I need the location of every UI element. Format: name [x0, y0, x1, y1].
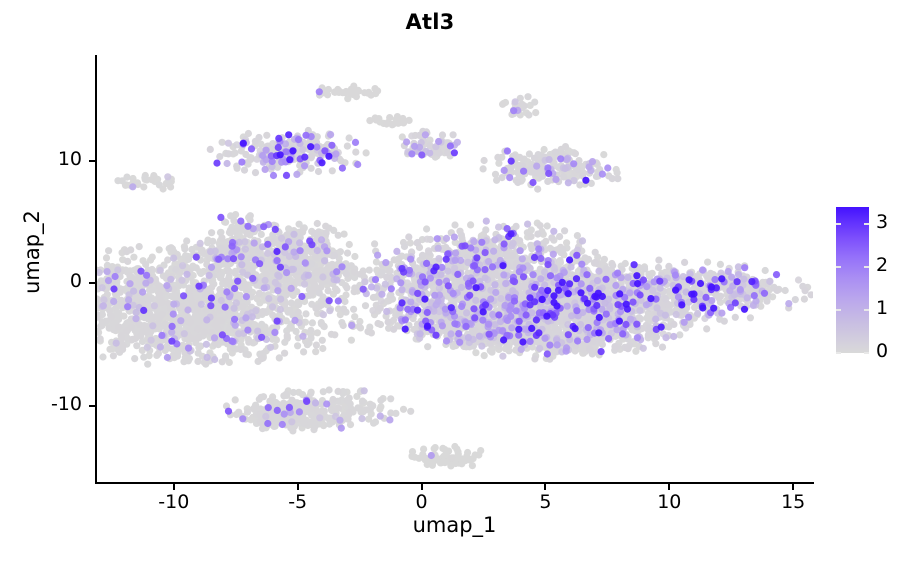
scatter-point: [232, 270, 239, 277]
scatter-point: [383, 120, 390, 127]
scatter-point: [216, 286, 223, 293]
scatter-points-layer: [97, 55, 813, 482]
scatter-point: [364, 328, 371, 335]
scatter-point: [544, 222, 551, 229]
scatter-point: [343, 270, 350, 277]
scatter-point: [149, 254, 156, 261]
scatter-point: [458, 235, 465, 242]
scatter-point: [352, 149, 359, 156]
scatter-point: [307, 335, 314, 342]
scatter-point: [351, 288, 358, 295]
scatter-point: [670, 321, 677, 328]
scatter-point: [782, 287, 789, 294]
scatter-point: [344, 416, 351, 423]
scatter-point: [560, 173, 567, 180]
scatter-point: [531, 155, 538, 162]
scatter-point: [704, 275, 711, 282]
scatter-point: [143, 323, 150, 330]
scatter-point: [704, 259, 711, 266]
scatter-point: [280, 400, 287, 407]
scatter-point: [439, 445, 446, 452]
scatter-point: [185, 287, 192, 294]
scatter-point: [97, 329, 102, 336]
scatter-point: [622, 260, 629, 267]
scatter-point: [371, 85, 378, 92]
scatter-point: [624, 345, 631, 352]
scatter-point: [322, 223, 329, 230]
scatter-point: [282, 391, 289, 398]
scatter-point: [207, 146, 214, 153]
scatter-point: [308, 153, 315, 160]
scatter-point: [311, 420, 318, 427]
scatter-point: [353, 93, 360, 100]
scatter-point: [321, 408, 328, 415]
scatter-point: [481, 352, 488, 359]
scatter-point: [343, 397, 350, 404]
scatter-point: [323, 266, 330, 273]
scatter-point: [168, 293, 175, 300]
scatter-point: [323, 230, 330, 237]
scatter-point: [194, 325, 201, 332]
scatter-point: [181, 245, 188, 252]
scatter-point: [527, 242, 534, 249]
scatter-point: [659, 344, 666, 351]
scatter-point: [320, 323, 327, 330]
scatter-point: [609, 262, 616, 269]
scatter-point: [258, 321, 265, 328]
scatter-point: [703, 325, 710, 332]
scatter-point: [386, 114, 393, 121]
scatter-point: [340, 322, 347, 329]
scatter-point: [450, 131, 457, 138]
scatter-point: [335, 232, 342, 239]
scatter-point: [199, 248, 206, 255]
scatter-point: [717, 261, 724, 268]
scatter-point: [213, 318, 220, 325]
scatter-point: [314, 220, 321, 227]
scatter-point: [605, 287, 612, 294]
scatter-point: [488, 349, 495, 356]
scatter-point: [227, 279, 234, 286]
scatter-point: [218, 245, 225, 252]
scatter-point: [329, 167, 336, 174]
scatter-point: [528, 233, 535, 240]
scatter-point: [377, 305, 384, 312]
scatter-point: [641, 265, 648, 272]
scatter-point: [231, 149, 238, 156]
scatter-point: [307, 327, 314, 334]
scatter-point: [218, 234, 225, 241]
scatter-point: [344, 250, 351, 257]
scatter-point: [155, 350, 162, 357]
scatter-point: [185, 319, 192, 326]
scatter-point: [514, 179, 521, 186]
scatter-point: [127, 246, 134, 253]
scatter-point: [472, 349, 479, 356]
scatter-point: [455, 450, 462, 457]
x-axis-spine: [95, 482, 814, 484]
scatter-point: [587, 346, 594, 353]
scatter-point: [335, 388, 342, 395]
scatter-point: [141, 174, 148, 181]
scatter-point: [128, 324, 135, 331]
scatter-point: [406, 117, 413, 124]
scatter-point: [346, 134, 353, 141]
scatter-point: [337, 248, 344, 255]
scatter-point: [401, 243, 408, 250]
scatter-point: [304, 341, 311, 348]
scatter-point: [326, 386, 333, 393]
scatter-point: [197, 270, 204, 277]
scatter-point: [372, 418, 379, 425]
scatter-point: [387, 267, 394, 274]
scatter-point: [516, 154, 523, 161]
scatter-point: [532, 109, 539, 116]
scatter-point: [548, 234, 555, 241]
scatter-point: [239, 303, 246, 310]
scatter-point: [351, 253, 358, 260]
scatter-point: [509, 252, 516, 259]
scatter-point: [423, 225, 430, 232]
scatter-point: [252, 138, 259, 145]
scatter-point: [189, 335, 196, 342]
scatter-point: [611, 343, 618, 350]
scatter-point: [448, 454, 455, 461]
scatter-point: [99, 353, 106, 360]
scatter-point: [156, 282, 163, 289]
scatter-point: [477, 447, 484, 454]
scatter-point: [139, 298, 146, 305]
scatter-point: [676, 331, 683, 338]
scatter-point: [133, 342, 140, 349]
scatter-point: [341, 298, 348, 305]
scatter-point: [318, 301, 325, 308]
scatter-point: [252, 405, 259, 412]
scatter-point: [469, 462, 476, 469]
scatter-point: [408, 132, 415, 139]
scatter-point: [257, 418, 264, 425]
scatter-point: [556, 258, 563, 265]
scatter-point: [268, 264, 275, 271]
scatter-point: [580, 346, 587, 353]
scatter-point: [534, 186, 541, 193]
scatter-point: [136, 321, 143, 328]
scatter-point: [124, 258, 131, 265]
scatter-point: [308, 165, 315, 172]
scatter-point: [208, 229, 215, 236]
scatter-point: [409, 452, 416, 459]
scatter-point: [315, 168, 322, 175]
scatter-point: [467, 221, 474, 228]
scatter-point: [319, 345, 326, 352]
scatter-point: [288, 299, 295, 306]
scatter-point: [244, 409, 251, 416]
scatter-point: [368, 92, 375, 99]
scatter-point: [225, 268, 232, 275]
scatter-point: [405, 233, 412, 240]
scatter-point: [600, 151, 607, 158]
scatter-point: [494, 154, 501, 161]
scatter-point: [470, 455, 477, 462]
scatter-point: [581, 254, 588, 261]
scatter-point: [260, 393, 267, 400]
scatter-point: [266, 398, 273, 405]
scatter-point: [444, 149, 451, 156]
scatter-point: [146, 296, 153, 303]
scatter-point: [281, 350, 288, 357]
scatter-point: [390, 326, 397, 333]
scatter-point: [136, 243, 143, 250]
scatter-point: [172, 266, 179, 273]
scatter-point: [237, 346, 244, 353]
scatter-point: [561, 227, 568, 234]
scatter-point: [556, 233, 563, 240]
scatter-point: [655, 264, 662, 271]
scatter-point: [302, 310, 309, 317]
scatter-point: [359, 398, 366, 405]
scatter-point: [140, 183, 147, 190]
scatter-point: [534, 231, 541, 238]
scatter-point: [226, 229, 233, 236]
scatter-point: [462, 457, 469, 464]
scatter-point: [574, 232, 581, 239]
scatter-point: [232, 396, 239, 403]
scatter-point: [195, 350, 202, 357]
scatter-point: [245, 130, 252, 137]
scatter-point: [366, 267, 373, 274]
scatter-point: [747, 314, 754, 321]
scatter-point: [525, 111, 532, 118]
scatter-plot-canvas: [97, 55, 813, 482]
scatter-point: [373, 115, 380, 122]
scatter-point: [339, 89, 346, 96]
scatter-point: [340, 305, 347, 312]
scatter-point: [119, 177, 126, 184]
scatter-point: [376, 406, 383, 413]
scatter-point: [342, 291, 349, 298]
scatter-point: [314, 329, 321, 336]
scatter-point: [183, 237, 190, 244]
scatter-point: [363, 149, 370, 156]
scatter-point: [346, 409, 353, 416]
scatter-point: [344, 143, 351, 150]
scatter-point: [331, 331, 338, 338]
scatter-point: [572, 150, 579, 157]
scatter-point: [482, 226, 489, 233]
scatter-point: [269, 312, 276, 319]
scatter-point: [256, 290, 263, 297]
scatter-point: [480, 165, 487, 172]
scatter-point: [243, 230, 250, 237]
scatter-point: [259, 425, 266, 432]
scatter-point: [103, 254, 110, 261]
scatter-point: [309, 319, 316, 326]
scatter-point: [491, 270, 498, 277]
scatter-point: [400, 406, 407, 413]
scatter-point: [652, 340, 659, 347]
scatter-point: [521, 102, 528, 109]
scatter-point: [206, 254, 213, 261]
scatter-point: [531, 355, 538, 362]
scatter-point: [295, 309, 302, 316]
scatter-point: [311, 281, 318, 288]
scatter-point: [150, 172, 157, 179]
scatter-point: [131, 355, 138, 362]
scatter-point: [431, 445, 438, 452]
scatter-point: [115, 323, 122, 330]
scatter-point: [601, 256, 608, 263]
scatter-point: [335, 405, 342, 412]
scatter-point: [378, 297, 385, 304]
scatter-point: [387, 395, 394, 402]
scatter-point: [346, 241, 353, 248]
scatter-point: [195, 334, 202, 341]
scatter-point: [537, 222, 544, 229]
scatter-point: [294, 401, 301, 408]
scatter-point: [343, 284, 350, 291]
scatter-point: [544, 178, 551, 185]
scatter-point: [258, 231, 265, 238]
scatter-point: [609, 175, 616, 182]
scatter-point: [129, 336, 136, 343]
scatter-point: [419, 252, 426, 259]
scatter-point: [387, 409, 394, 416]
scatter-point: [481, 157, 488, 164]
scatter-point: [293, 328, 300, 335]
scatter-point: [209, 238, 216, 245]
scatter-point: [425, 247, 432, 254]
scatter-point: [407, 408, 414, 415]
scatter-point: [513, 223, 520, 230]
scatter-point: [329, 396, 336, 403]
scatter-point: [499, 101, 506, 108]
scatter-point: [156, 290, 163, 297]
scatter-point: [259, 308, 266, 315]
scatter-point: [507, 164, 514, 171]
scatter-point: [385, 318, 392, 325]
scatter-point: [117, 289, 124, 296]
scatter-point: [319, 337, 326, 344]
scatter-point: [366, 117, 373, 124]
scatter-point: [284, 332, 291, 339]
scatter-point: [120, 342, 127, 349]
scatter-point: [592, 249, 599, 256]
scatter-point: [599, 341, 606, 348]
scatter-point: [314, 408, 321, 415]
scatter-point: [370, 294, 377, 301]
scatter-point: [247, 212, 254, 219]
scatter-point: [156, 246, 163, 253]
scatter-point: [348, 337, 355, 344]
scatter-point: [362, 302, 369, 309]
scatter-point: [374, 320, 381, 327]
scatter-point: [105, 247, 112, 254]
scatter-point: [225, 150, 232, 157]
scatter-point: [294, 342, 301, 349]
scatter-point: [258, 355, 265, 362]
scatter-point: [792, 296, 799, 303]
scatter-point: [313, 342, 320, 349]
scatter-point: [643, 314, 650, 321]
scatter-point: [325, 287, 332, 294]
umap-feature-plot: Atl3 -10-5051015 100-10 umap_1 umap_2 32…: [0, 0, 911, 562]
scatter-point: [219, 139, 226, 146]
scatter-point: [451, 221, 458, 228]
scatter-point: [439, 131, 446, 138]
scatter-point: [802, 287, 809, 294]
scatter-point: [118, 332, 125, 339]
scatter-point: [351, 313, 358, 320]
scatter-point: [732, 314, 739, 321]
scatter-point: [369, 402, 376, 409]
scatter-point: [140, 354, 147, 361]
scatter-point: [310, 426, 317, 433]
scatter-point: [106, 307, 113, 314]
scatter-point: [126, 272, 133, 279]
scatter-point: [151, 313, 158, 320]
scatter-point: [190, 301, 197, 308]
scatter-point: [424, 343, 431, 350]
scatter-point: [331, 252, 338, 259]
scatter-point: [801, 296, 808, 303]
scatter-point: [235, 409, 242, 416]
scatter-point: [174, 349, 181, 356]
scatter-point: [216, 153, 223, 160]
scatter-point: [377, 397, 384, 404]
scatter-point: [655, 257, 662, 264]
scatter-point: [350, 306, 357, 313]
scatter-point: [721, 318, 728, 325]
scatter-point: [201, 329, 208, 336]
scatter-point: [249, 247, 256, 254]
scatter-point: [332, 89, 339, 96]
scatter-point: [531, 99, 538, 106]
scatter-point: [762, 267, 769, 274]
scatter-point: [312, 348, 319, 355]
scatter-point: [492, 171, 499, 178]
scatter-point: [464, 449, 471, 456]
scatter-point: [316, 289, 323, 296]
scatter-point: [144, 361, 151, 368]
scatter-point: [383, 274, 390, 281]
scatter-point: [516, 237, 523, 244]
scatter-point: [230, 217, 237, 224]
scatter-point: [156, 181, 163, 188]
scatter-point: [263, 132, 270, 139]
scatter-point: [108, 313, 115, 320]
page-title: Atl3: [0, 10, 860, 34]
scatter-point: [130, 254, 137, 261]
scatter-point: [795, 276, 802, 283]
scatter-point: [681, 259, 688, 266]
scatter-point: [193, 264, 200, 271]
scatter-point: [159, 299, 166, 306]
scatter-point: [295, 301, 302, 308]
scatter-point: [106, 346, 113, 353]
scatter-point: [300, 348, 307, 355]
scatter-point: [180, 358, 187, 365]
scatter-point: [241, 167, 248, 174]
scatter-point: [524, 93, 531, 100]
scatter-point: [559, 246, 566, 253]
scatter-point: [252, 169, 259, 176]
scatter-point: [498, 174, 505, 181]
scatter-point: [552, 149, 559, 156]
scatter-point: [245, 339, 252, 346]
scatter-point: [242, 351, 249, 358]
scatter-point: [194, 358, 201, 365]
scatter-point: [363, 406, 370, 413]
